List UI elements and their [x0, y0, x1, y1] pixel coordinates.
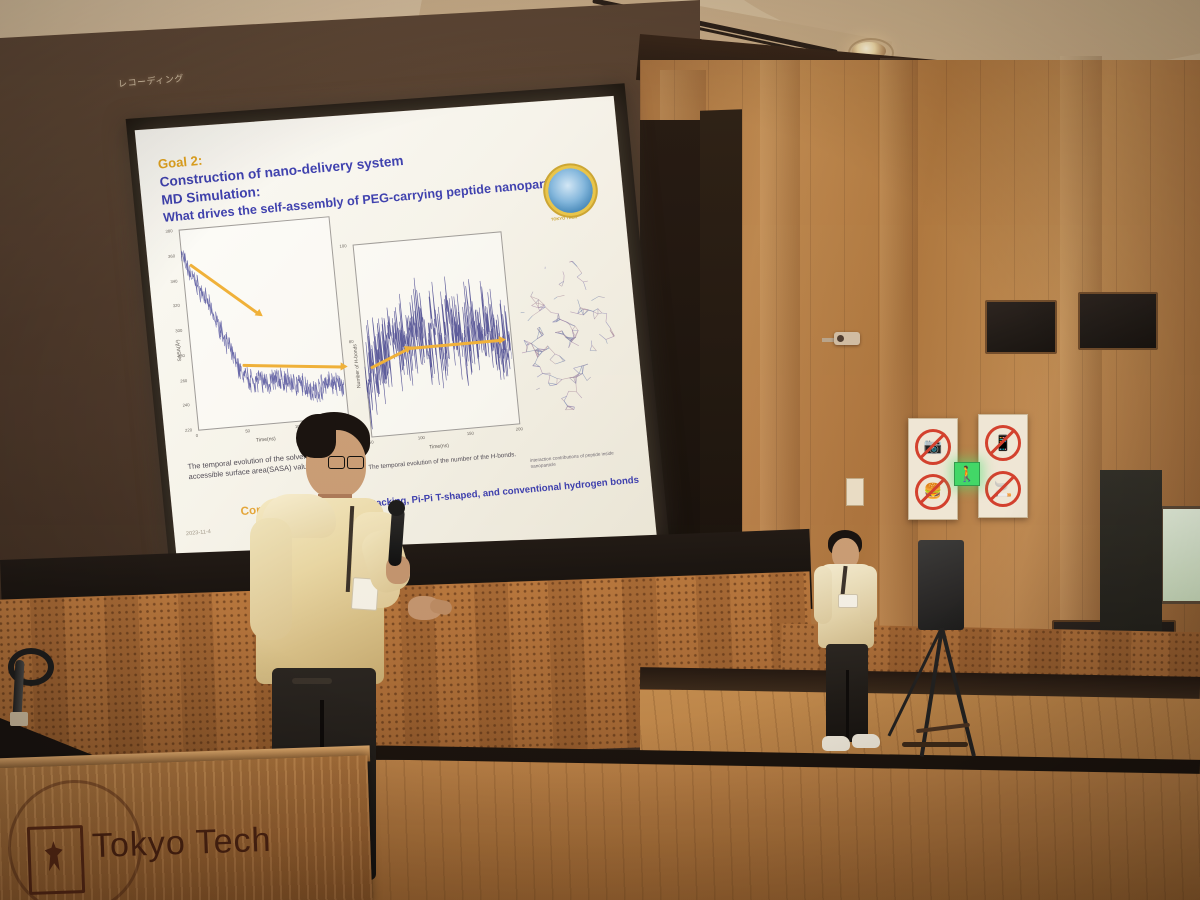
molecule-bond — [537, 374, 543, 378]
molecule-bond — [572, 330, 578, 331]
caption-right: interaction contributions of peptide ins… — [530, 449, 628, 470]
assistant-sleeve-left — [814, 566, 832, 624]
molecule-bond — [590, 345, 593, 350]
molecule-bond — [610, 330, 614, 336]
y-tick: 340 — [170, 278, 178, 284]
presenter-sleeve-left — [250, 518, 292, 640]
molecule-bond — [531, 343, 535, 351]
molecule-bond — [582, 364, 588, 366]
chart-hbonds-xlabel: Time(ns) — [429, 443, 449, 451]
auditorium-photo: レコーディング 📷 🍔 📱 🚬 🚶 Goal 2: Construction o… — [0, 0, 1200, 900]
molecule-bond — [531, 296, 536, 303]
caption-middle: The temporal evolution of the number of … — [368, 451, 520, 473]
molecule-bond — [574, 368, 580, 374]
molecule-bond — [570, 311, 577, 314]
molecule-bond — [550, 375, 557, 379]
security-camera-icon — [834, 332, 860, 345]
y-tick: 360 — [168, 253, 176, 259]
wall-dark-panel — [1078, 292, 1158, 350]
chart-sasa-xlabel: Time(ns) — [256, 436, 276, 444]
pa-speaker — [918, 540, 964, 630]
molecule-bond — [587, 377, 591, 381]
molecule-bond — [535, 351, 537, 358]
tokyo-tech-emblem-icon — [27, 825, 85, 895]
molecule-bond — [583, 310, 589, 315]
molecule-bond — [574, 407, 575, 409]
presenter-hair-side — [296, 414, 336, 458]
molecule-bond — [594, 314, 599, 319]
molecule-bond — [563, 275, 564, 281]
slide-goal-label: Goal 2: — [157, 153, 203, 172]
assistant-shoe-right — [852, 734, 880, 748]
no-photography-icon: 📷 — [915, 429, 951, 465]
molecule-bond — [522, 352, 526, 353]
gooseneck-microphone-base — [10, 712, 28, 726]
molecule-bond — [572, 326, 575, 330]
molecule-bond — [561, 398, 564, 401]
molecule-bond — [564, 401, 568, 407]
molecule-bond — [531, 339, 538, 343]
molecule-bond — [577, 277, 583, 283]
wood-plank — [1060, 56, 1102, 686]
molecule-bond — [542, 373, 550, 374]
molecule-bond — [593, 311, 594, 319]
molecule-bond — [566, 391, 569, 396]
no-smoking-icon: 🚬 — [985, 471, 1021, 507]
molecule-bond — [573, 366, 582, 368]
molecule-bond — [562, 378, 570, 380]
molecule-bond — [606, 336, 614, 339]
y-tick: 260 — [180, 377, 188, 383]
molecule-bond — [569, 390, 577, 392]
molecule-bond — [526, 350, 535, 352]
molecule-bond — [557, 378, 562, 380]
molecule-bond — [548, 346, 550, 348]
assistant-pants-seam — [846, 670, 849, 742]
molecule-bond — [550, 359, 556, 364]
molecule-bond — [599, 296, 605, 298]
molecule-bond — [549, 347, 555, 354]
microphone-head — [388, 500, 405, 516]
wood-plank — [880, 58, 918, 688]
molecule-bond — [578, 299, 581, 307]
molecule-bond — [576, 384, 577, 392]
no-mobile-phone-icon: 📱 — [985, 425, 1021, 461]
molecule-bond — [565, 406, 568, 409]
chart-hbonds-trace — [353, 231, 519, 435]
molecule-bond — [606, 339, 608, 343]
university-logo-icon — [546, 167, 595, 215]
y-tick: 300 — [175, 328, 183, 334]
podium-brand-label: Tokyo Tech — [91, 821, 272, 866]
molecule-bond — [591, 296, 599, 300]
molecule-bond — [602, 313, 607, 314]
y-tick: 320 — [173, 303, 181, 309]
molecule-bond — [582, 366, 583, 374]
confidence-monitor — [1160, 506, 1200, 604]
molecule-bond — [532, 311, 540, 316]
molecule-bond — [540, 367, 543, 374]
stage-drape — [700, 109, 742, 580]
x-tick: 0 — [195, 433, 198, 438]
molecule-bond — [527, 316, 533, 321]
molecule-bond — [583, 373, 587, 381]
molecule-bond — [545, 267, 546, 269]
molecule-bond — [583, 281, 587, 282]
molecule-bond — [555, 354, 559, 357]
molecule-bond — [550, 373, 551, 375]
molecule-bond — [577, 391, 582, 398]
chart-hbonds-ylabel: Number of H-bonds — [352, 344, 362, 388]
molecule-bond — [563, 271, 564, 275]
y-tick: 100 — [339, 243, 347, 249]
molecule-bond — [605, 314, 608, 322]
molecule-bond — [549, 354, 555, 360]
molecule-bond — [539, 308, 540, 311]
chart-sasa-ylabel: SASA(Å²) — [175, 339, 183, 361]
molecule-bond — [577, 273, 582, 277]
presenter-glasses-icon — [328, 456, 364, 467]
assistant-shoe-left — [822, 736, 850, 751]
molecule-bond — [598, 308, 602, 313]
emergency-exit-icon: 🚶 — [954, 462, 980, 486]
wall-dark-panel — [985, 300, 1057, 354]
molecule-bond — [593, 309, 598, 312]
series-H-bonds — [356, 270, 517, 430]
molecule-bond — [534, 357, 538, 363]
molecule-bond — [592, 345, 597, 351]
stage-floor-front — [300, 760, 1200, 900]
assistant-name-badge — [838, 594, 858, 608]
molecule-bond — [554, 297, 558, 299]
molecule-bond — [531, 303, 536, 306]
y-tick: 240 — [182, 402, 190, 408]
y-tick: 280 — [177, 353, 185, 359]
y-tick: 80 — [349, 339, 354, 344]
y-tick: 380 — [165, 228, 173, 234]
molecule-bond — [590, 350, 596, 351]
molecule-bond — [593, 311, 598, 314]
molecule-bond — [536, 388, 540, 390]
university-logo-label: TOKYO TECH — [551, 214, 578, 221]
molecule-bond — [530, 292, 533, 297]
molecule-bond — [598, 313, 602, 314]
prohibition-sign-left: 📷 🍔 — [908, 418, 958, 520]
molecule-bond — [575, 326, 578, 331]
chart-sasa-trace — [179, 216, 347, 428]
molecule-bond — [550, 384, 557, 385]
molecule-bond — [599, 334, 606, 340]
monitor-screen-glow — [1163, 509, 1200, 601]
molecule-bond — [548, 375, 551, 383]
molecule-bond — [573, 261, 577, 267]
molecule-bond — [583, 282, 586, 290]
molecule-bond — [560, 355, 566, 361]
molecule-bond — [551, 312, 558, 314]
y-tick: 220 — [185, 427, 193, 433]
prohibition-sign-right: 📱 🚬 — [978, 414, 1028, 518]
molecule-bond — [559, 284, 562, 286]
x-tick: 50 — [245, 428, 250, 433]
molecule-bond — [572, 330, 574, 338]
x-tick: 150 — [467, 430, 475, 436]
small-wall-sign — [846, 478, 864, 506]
series-SASA — [181, 237, 346, 413]
molecule-bond — [577, 266, 582, 273]
molecule-bond — [575, 330, 579, 337]
molecule-bond — [566, 409, 574, 410]
molecule-bond — [555, 361, 563, 364]
no-food-drink-icon: 🍔 — [915, 474, 951, 510]
molecule-bond — [557, 295, 565, 297]
assistant-sleeve-right — [860, 566, 877, 624]
molecular-structure-diagram — [501, 239, 632, 440]
cable-on-floor — [902, 742, 968, 747]
slide-date-stamp: 2023-11-4 — [186, 529, 211, 537]
molecule-bond — [545, 306, 551, 313]
molecule-bond — [571, 341, 578, 346]
molecule-bond — [572, 261, 578, 267]
x-tick: 100 — [418, 435, 426, 441]
presenter-drawstring — [292, 678, 332, 684]
molecule-bond — [521, 312, 525, 313]
molecule-bond — [606, 321, 611, 328]
